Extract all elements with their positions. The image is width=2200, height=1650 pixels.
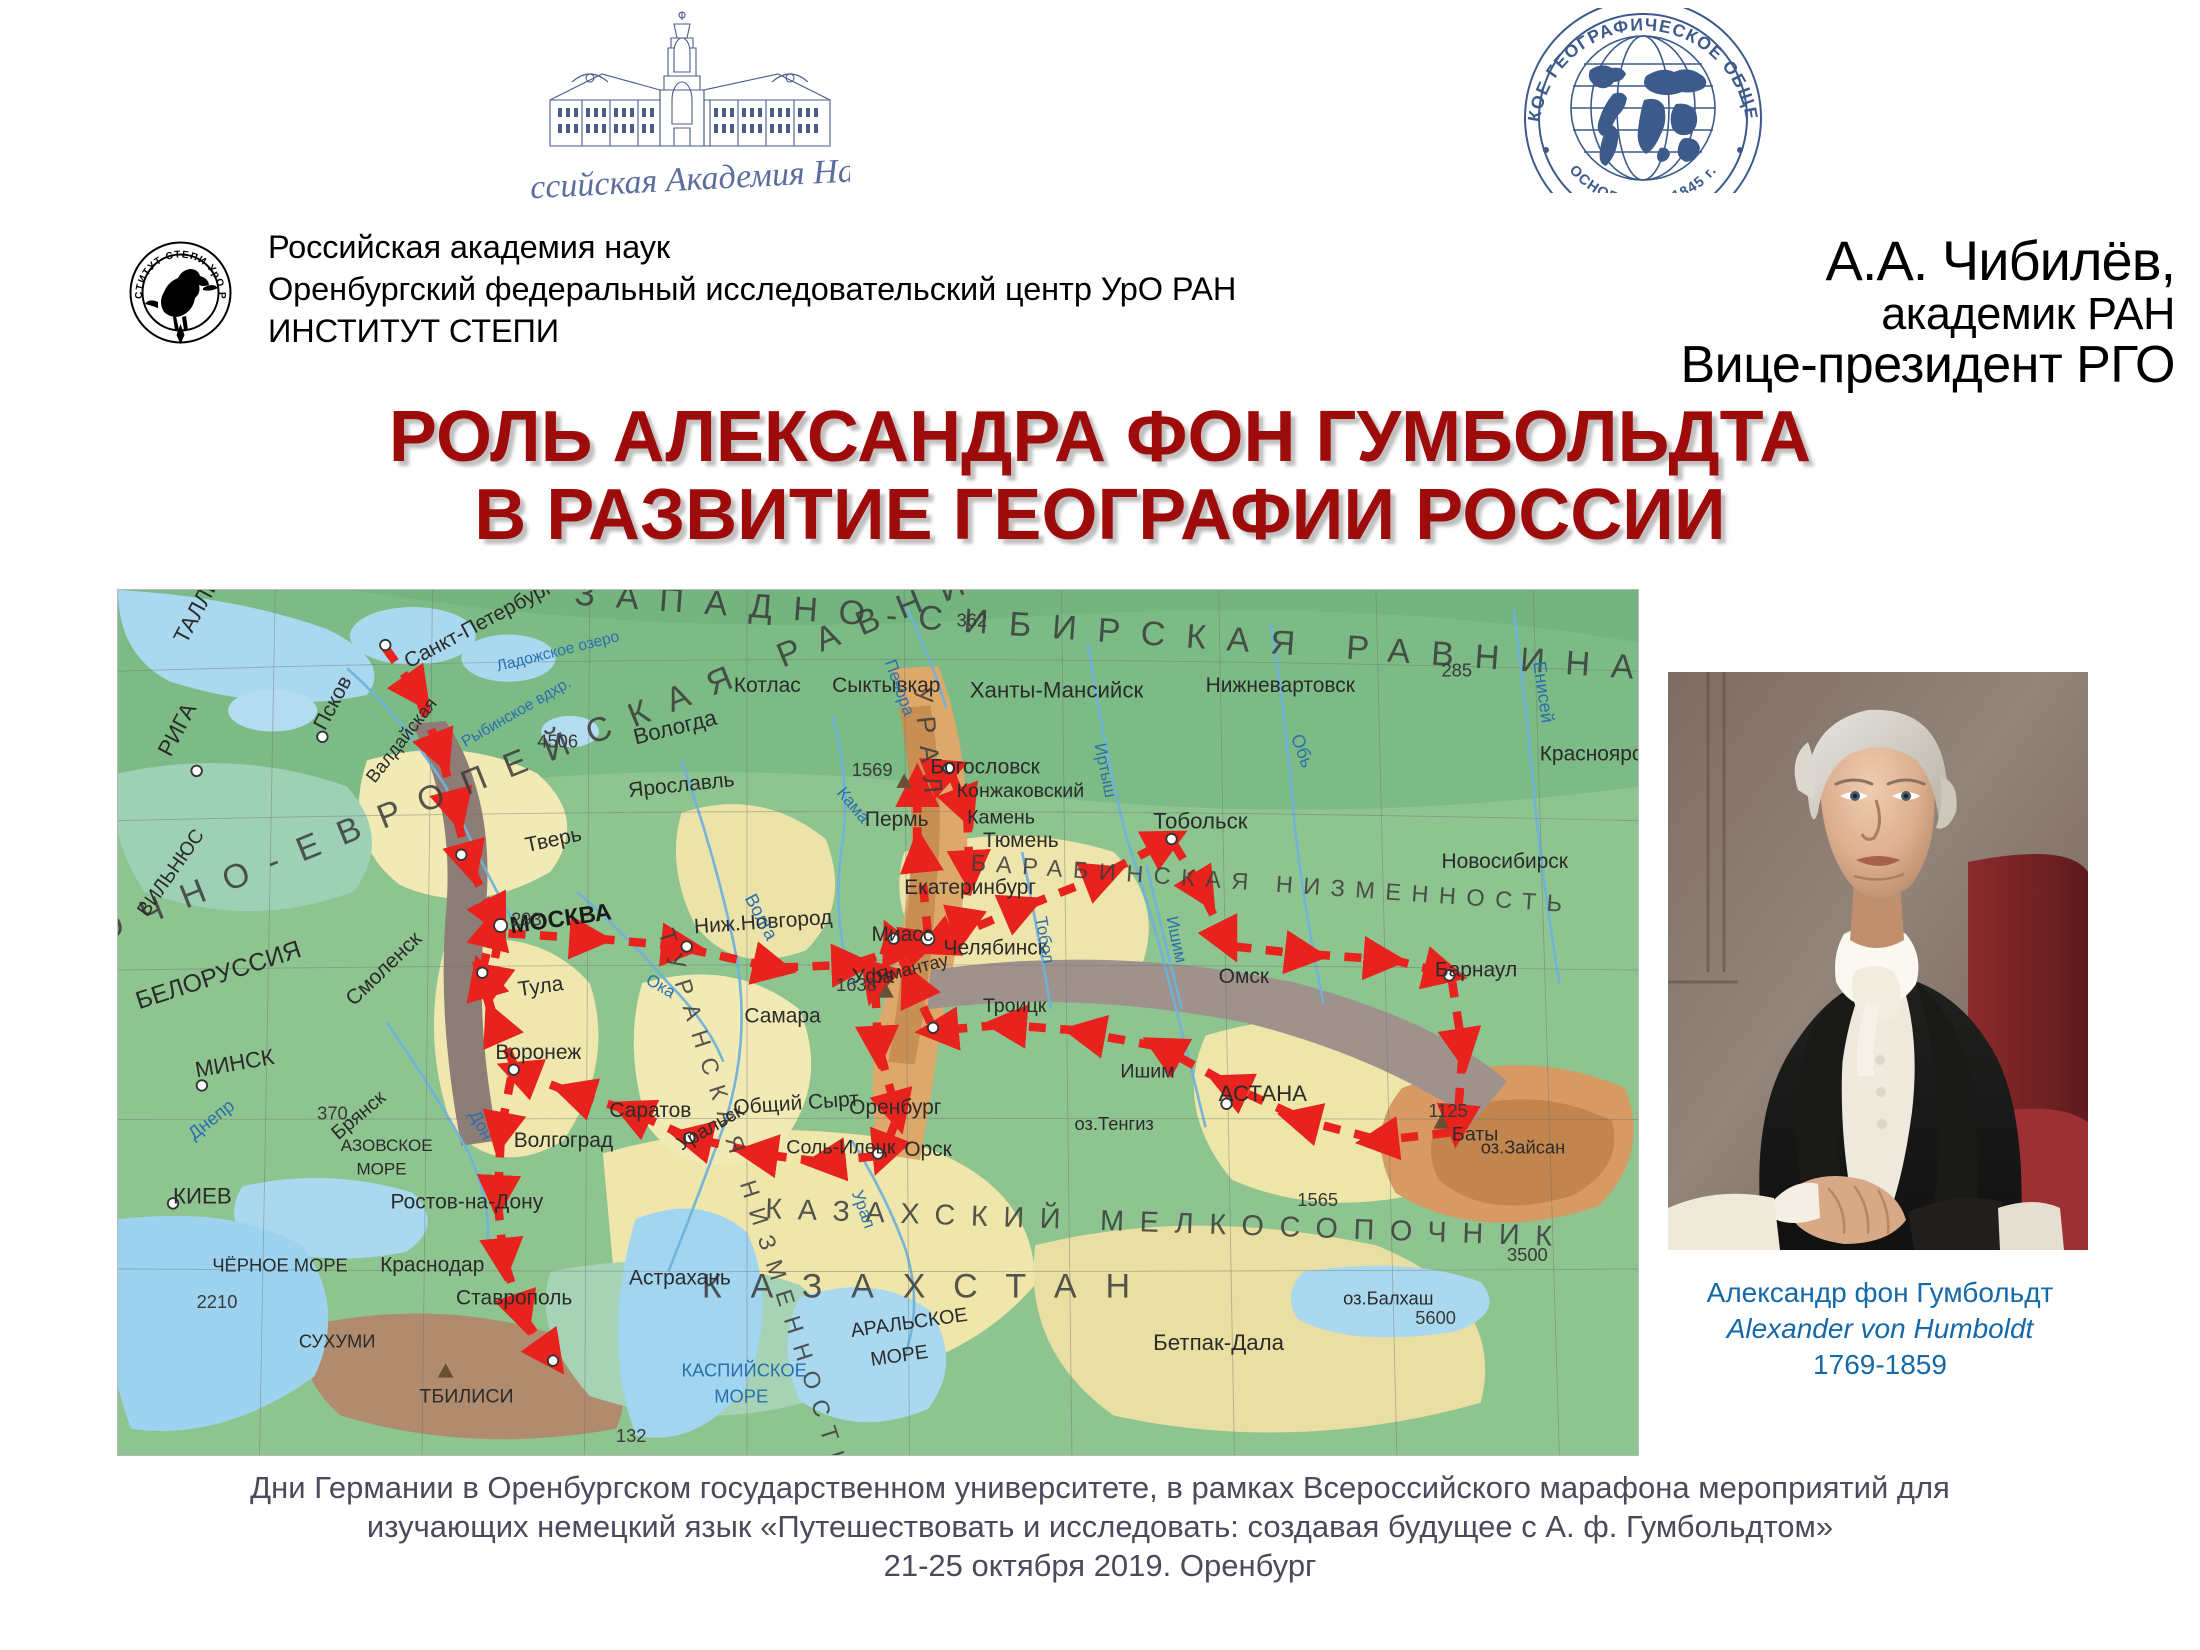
map-elevation-label: 132 xyxy=(616,1425,647,1446)
institution-line-center: Оренбургский федеральный исследовательск… xyxy=(268,268,1236,310)
map-city-label: МОРЕ xyxy=(356,1160,406,1179)
map-city-label: Ишим xyxy=(1120,1061,1174,1083)
map-city-label: Нижневартовск xyxy=(1206,674,1356,697)
map-city-label: оз.Тенгиз xyxy=(1075,1113,1154,1134)
svg-text:ОСНОВАНО В 1845 г.: ОСНОВАНО В 1845 г. xyxy=(1566,162,1721,193)
map-city-label: КИЕВ xyxy=(173,1183,232,1208)
map-city-label: Ростов-на-Дону xyxy=(391,1191,544,1214)
map-elevation-label: 1565 xyxy=(1297,1189,1338,1210)
map-elevation-label: 293 xyxy=(511,909,542,930)
map-city-label: Баты xyxy=(1452,1123,1498,1145)
author-rank: академик РАН xyxy=(1355,290,2175,338)
portrait-caption-years: 1769-1859 xyxy=(1640,1347,2120,1383)
map-city-label: СУХУМИ xyxy=(299,1331,376,1352)
svg-text:РУССКОЕ ГЕОГРАФИЧЕСКОЕ ОБЩЕСТВ: РУССКОЕ ГЕОГРАФИЧЕСКОЕ ОБЩЕСТВО xyxy=(1518,8,1762,123)
map-city-label: Ставрополь xyxy=(456,1286,572,1309)
portrait-caption-russian: Александр фон Гумбольдт xyxy=(1640,1275,2120,1311)
top-logo-row: Российская Академия Наук xyxy=(0,0,2200,225)
institution-line-academy: Российская академия наук xyxy=(268,226,1236,268)
map-city-label: Екатеринбург xyxy=(904,876,1036,899)
footer-block: Дни Германии в Оренбургском государствен… xyxy=(50,1468,2150,1585)
page-title-line2: В РАЗВИТИЕ ГЕОГРАФИИ РОССИИ xyxy=(130,476,2070,554)
map-city-label: Барнаул xyxy=(1435,959,1517,982)
map-city-label: Пермь xyxy=(865,808,929,831)
map-region-label: КАЗАХСТАН xyxy=(702,1268,1159,1306)
map-city-label: Камень xyxy=(967,806,1035,828)
alexander-von-humboldt-portrait xyxy=(1668,672,2088,1250)
map-city-label: Оренбург xyxy=(849,1096,942,1119)
map-city-label: Челябинск xyxy=(944,936,1048,959)
map-city-label: Краснодар xyxy=(380,1254,484,1277)
map-elevation-label: 362 xyxy=(957,610,988,631)
author-role: Вице-президент РГО xyxy=(1355,338,2175,393)
author-name: А.А. Чибилёв, xyxy=(1355,232,2175,290)
map-elevation-label: 370 xyxy=(317,1102,348,1123)
map-city-label: Богословск xyxy=(930,755,1040,778)
institution-block: ИНСТИТУТ СТЕПИ УрО РАН Российская академ… xyxy=(128,232,1458,357)
institution-line-institute: ИНСТИТУТ СТЕПИ xyxy=(268,310,1236,352)
map-city-label: Миасс xyxy=(871,923,933,946)
rgs-ring-bottom-text: ОСНОВАНО В 1845 г. xyxy=(1566,162,1721,193)
map-city-label: Троицк xyxy=(983,995,1047,1017)
map-elevation-label: 3500 xyxy=(1507,1244,1548,1265)
page-title-line1: РОЛЬ АЛЕКСАНДРА ФОН ГУМБОЛЬДТА xyxy=(130,398,2070,476)
map-city-label: Орск xyxy=(904,1138,952,1161)
author-block: А.А. Чибилёв, академик РАН Вице-президен… xyxy=(1355,232,2175,393)
map-city-label: Тюмень xyxy=(983,829,1059,852)
map-city-label: МОРЕ xyxy=(714,1386,768,1407)
map-elevation-label: 2210 xyxy=(197,1291,238,1312)
map-city-label: АЗОВСКОЕ xyxy=(341,1136,433,1155)
institute-of-steppe-seal: ИНСТИТУТ СТЕПИ УрО РАН xyxy=(128,240,233,345)
map-elevation-label: 1125 xyxy=(1428,1100,1467,1121)
map-city-label: оз.Балхаш xyxy=(1343,1287,1433,1308)
map-city-label: Тобольск xyxy=(1153,809,1248,834)
portrait-caption: Александр фон Гумбольдт Alexander von Hu… xyxy=(1640,1275,2120,1383)
footer-line-2: изучающих немецкий язык «Путешествовать … xyxy=(50,1507,2150,1546)
map-city-label: КАСПИЙСКОЕ xyxy=(681,1359,806,1380)
page-title: РОЛЬ АЛЕКСАНДРА ФОН ГУМБОЛЬДТА В РАЗВИТИ… xyxy=(130,398,2070,554)
map-city-label: Омск xyxy=(1219,965,1270,988)
map-city-label: АСТАНА xyxy=(1219,1081,1307,1106)
humboldt-expedition-route-map: ВОСТОЧНО-ЕВРОПЕЙСКАЯ РАВНИНАЗАПАДНО-СИБИ… xyxy=(118,590,1638,1455)
footer-line-1: Дни Германии в Оренбургском государствен… xyxy=(50,1468,2150,1507)
map-city-label: Воронеж xyxy=(495,1041,581,1064)
map-city-label: ЧЁРНОЕ МОРЕ xyxy=(212,1255,347,1276)
map-city-label: Новосибирск xyxy=(1441,850,1568,873)
map-city-label: Бетпак-Дала xyxy=(1153,1330,1284,1355)
map-elevation-label: 1569 xyxy=(852,759,893,780)
map-elevation-label: 285 xyxy=(1441,659,1472,680)
map-elevation-label: 4506 xyxy=(537,730,578,751)
map-city-label: Астрахань xyxy=(629,1267,731,1290)
map-elevation-label: 5600 xyxy=(1415,1307,1456,1328)
map-city-label: Самара xyxy=(744,1004,821,1027)
map-city-label: Котлас xyxy=(734,674,801,697)
map-city-label: ТБИЛИСИ xyxy=(419,1386,513,1408)
rgs-ring-top-text: РУССКОЕ ГЕОГРАФИЧЕСКОЕ ОБЩЕСТВО xyxy=(1518,8,1762,123)
map-city-label: Саратов xyxy=(609,1099,691,1122)
russian-geographical-society-logo: РУССКОЕ ГЕОГРАФИЧЕСКОЕ ОБЩЕСТВО ОСНОВАНО… xyxy=(1518,8,1768,193)
map-city-label: Ханты-Мансийск xyxy=(970,677,1144,702)
portrait-caption-english: Alexander von Humboldt xyxy=(1640,1311,2120,1347)
ras-building-logo: Российская Академия Наук xyxy=(530,2,850,217)
map-city-label: Соль-Илецк xyxy=(786,1137,896,1159)
ras-logo-script-caption: Российская Академия Наук xyxy=(530,151,850,209)
footer-line-3: 21-25 октября 2019. Оренбург xyxy=(50,1546,2150,1585)
map-elevation-label: 1638 xyxy=(836,974,877,995)
map-city-label: Красноярск xyxy=(1540,742,1638,765)
map-city-label: Конжаковский xyxy=(957,780,1085,802)
map-city-label: Волгоград xyxy=(514,1129,613,1152)
